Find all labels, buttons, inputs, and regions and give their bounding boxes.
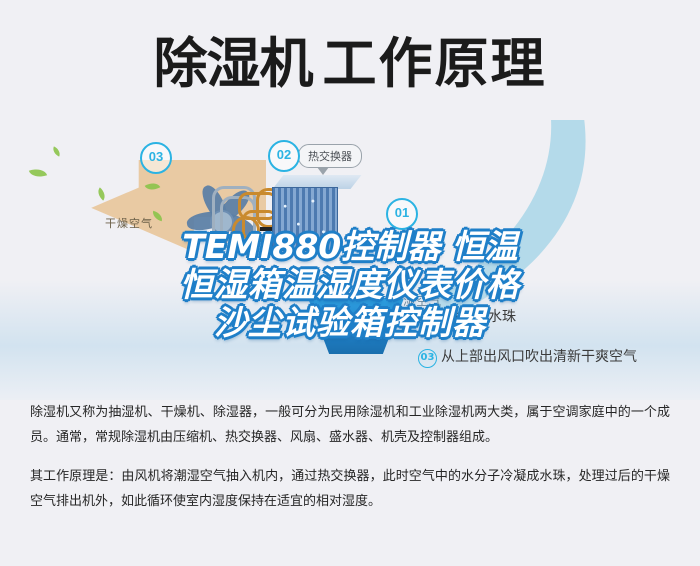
- diagram-caption-03: 03从上部出风口吹出清新干爽空气: [418, 346, 637, 368]
- caption-badge-03: 03: [418, 349, 437, 368]
- water-tank-icon: 水箱: [308, 298, 404, 354]
- body-paragraph-2: 其工作原理是：由风机将潮湿空气抽入机内，通过热交换器，此时空气中的水分子冷凝成水…: [30, 464, 670, 514]
- page-title-part1: 除湿机: [154, 32, 313, 95]
- heat-exchanger-callout: 热交换器: [298, 144, 362, 168]
- water-tank-label: 水箱: [308, 310, 404, 326]
- step-badge-01: 01: [386, 198, 418, 230]
- page-title: 除湿机工作原理: [0, 33, 700, 95]
- illustration-stage: 干燥空气: [0, 120, 700, 400]
- title-band: 除湿机工作原理: [0, 0, 700, 125]
- heat-exchanger-icon: [272, 175, 358, 253]
- body-paragraph-1: 除湿机又称为抽湿机、干燥机、除湿器，一般可分为民用除湿机和工业除湿机两大类，属于…: [30, 400, 670, 450]
- page-title-part2: 工作原理: [323, 32, 547, 95]
- leaf-icon: [29, 166, 47, 180]
- diagram-caption-02: 发器冷凝成水珠: [418, 306, 516, 326]
- page-root: 除湿机工作原理 干燥空气: [0, 0, 700, 566]
- step-badge-02: 02: [268, 140, 300, 172]
- body-text-section: 除湿机又称为抽湿机、干燥机、除湿器，一般可分为民用除湿机和工业除湿机两大类，属于…: [0, 400, 700, 514]
- step-badge-03: 03: [140, 142, 172, 174]
- dry-air-label: 干燥空气: [105, 215, 153, 231]
- leaf-icon: [51, 146, 62, 156]
- caption-03-text: 从上部出风口吹出清新干爽空气: [441, 349, 637, 365]
